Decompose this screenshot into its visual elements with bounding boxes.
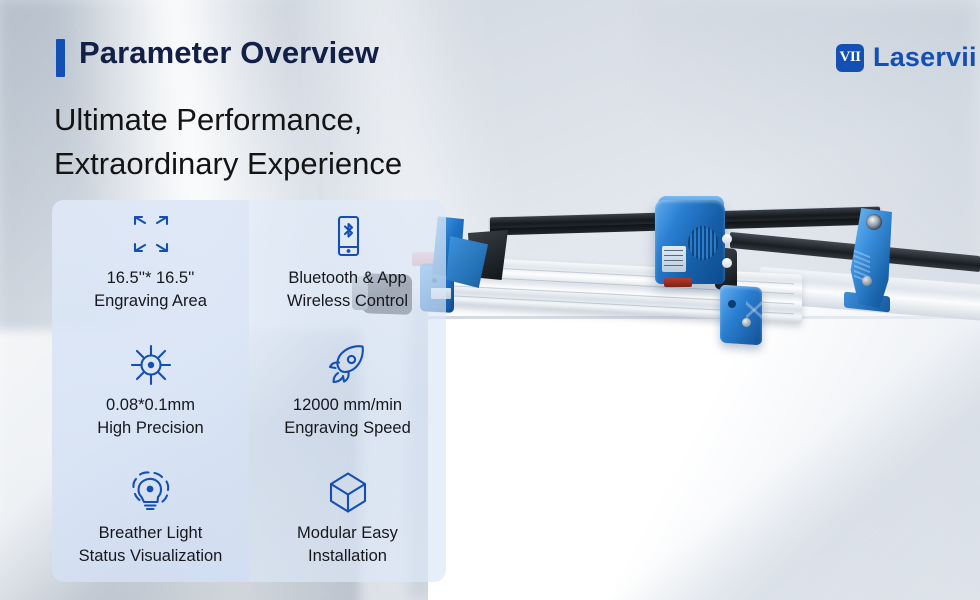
- gantry-tower-screw: [862, 276, 872, 286]
- title-accent-bar: [56, 39, 65, 77]
- feature-engraving-speed: 12000 mm/min Engraving Speed: [249, 327, 446, 454]
- feature-breather-light: Breather Light Status Visualization: [52, 455, 249, 582]
- feature-high-precision: 0.08*0.1mm High Precision: [52, 327, 249, 454]
- laser-head-knob-lower: [722, 258, 732, 268]
- page-subtitle: Ultimate Performance, Extraordinary Expe…: [54, 98, 574, 186]
- subtitle-line-2: Extraordinary Experience: [54, 142, 574, 186]
- carriage-pulley: [742, 318, 751, 327]
- feature-value: 0.08*0.1mm: [106, 394, 195, 416]
- promo-banner: Parameter Overview Ultimate Performance,…: [0, 0, 980, 600]
- gantry-tower-pulley: [866, 214, 882, 230]
- logo-badge-icon: VII: [836, 44, 864, 72]
- laser-engraver-product: [430, 190, 980, 340]
- feature-column-left: 16.5''* 16.5'' Engraving Area: [52, 200, 249, 582]
- feature-value: Breather Light: [99, 522, 203, 544]
- feature-label: Installation: [308, 545, 387, 567]
- laser-head-fan-vent: [688, 226, 718, 260]
- feature-engraving-area: 16.5''* 16.5'' Engraving Area: [52, 200, 249, 327]
- laser-head-knob-upper: [722, 234, 732, 244]
- pedestal-shadow: [600, 330, 980, 600]
- feature-value: Modular Easy: [297, 522, 398, 544]
- feature-value: 12000 mm/min: [293, 394, 402, 416]
- cube-icon: [325, 470, 371, 516]
- feature-label: High Precision: [97, 417, 203, 439]
- feature-column-right: Bluetooth & App Wireless Control: [249, 200, 446, 582]
- brand-logo: VII Laservii: [836, 42, 977, 73]
- carriage-screw: [728, 300, 736, 308]
- feature-label: Engraving Area: [94, 290, 207, 312]
- laser-aperture: [664, 278, 692, 287]
- logo-wordmark: Laservii: [873, 42, 977, 73]
- lightbulb-icon: [127, 470, 175, 516]
- feature-modular-installation: Modular Easy Installation: [249, 455, 446, 582]
- rocket-icon: [324, 342, 372, 388]
- expand-arrows-icon: [125, 215, 177, 261]
- subtitle-line-1: Ultimate Performance,: [54, 98, 574, 142]
- feature-label: Wireless Control: [287, 290, 408, 312]
- feature-panel: 16.5''* 16.5'' Engraving Area: [52, 200, 446, 582]
- crosshair-target-icon: [128, 342, 174, 388]
- phone-bluetooth-icon: [328, 215, 368, 261]
- feature-value: 16.5''* 16.5'': [107, 267, 195, 289]
- logo-badge-text: VII: [839, 49, 860, 66]
- feature-label: Engraving Speed: [284, 417, 411, 439]
- feature-bluetooth-app: Bluetooth & App Wireless Control: [249, 200, 446, 327]
- laser-head-label: [662, 246, 686, 272]
- feature-label: Status Visualization: [79, 545, 223, 567]
- feature-value: Bluetooth & App: [288, 267, 406, 289]
- page-title: Parameter Overview: [79, 35, 379, 71]
